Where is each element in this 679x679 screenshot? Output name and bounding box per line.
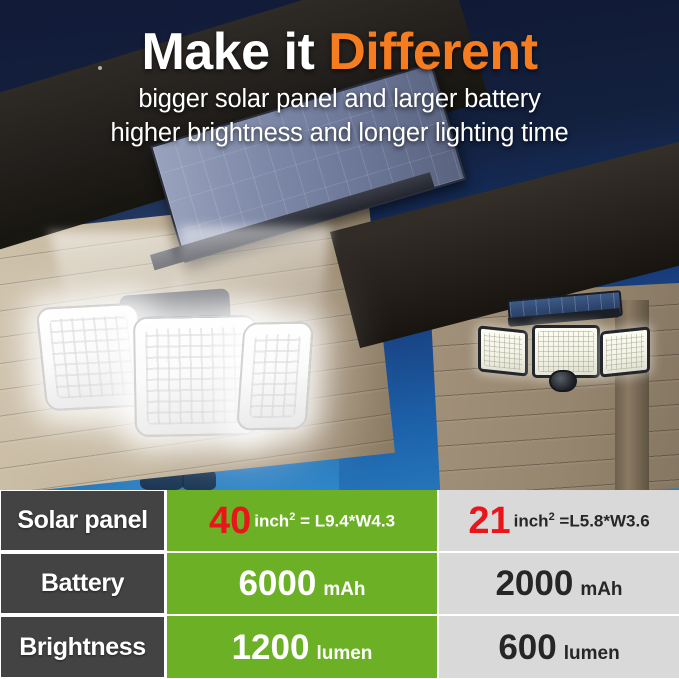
brightness-unit-bad: lumen <box>564 644 620 663</box>
solar-panel-value-good: 40 <box>209 502 251 540</box>
brightness-unit-good: lumen <box>316 644 372 663</box>
unit-text: inch <box>254 511 289 530</box>
cell-battery-upgraded: 6000 mAh <box>167 553 437 614</box>
led-grid <box>538 331 594 372</box>
solar-panel-unit-good: inch2 = L9.4*W4.3 <box>254 512 395 530</box>
lamp-head-right-3 <box>600 326 650 377</box>
cell-solar-panel-upgraded: 40 inch2 = L9.4*W4.3 <box>167 490 437 551</box>
row-label-battery: Battery <box>0 553 165 614</box>
superscript-two: 2 <box>289 511 295 523</box>
table-row: Brightness 1200 lumen 600 lumen <box>0 616 679 678</box>
row-label-brightness: Brightness <box>0 616 165 678</box>
table-row: Battery 6000 mAh 2000 mAh <box>0 553 679 614</box>
cell-brightness-ordinary: 600 lumen <box>439 616 679 678</box>
value-group: 6000 mAh <box>238 566 365 601</box>
led-grid <box>606 333 644 371</box>
battery-value-bad: 2000 <box>495 566 573 601</box>
cell-solar-panel-ordinary: 21 inch2 =L5.8*W3.6 <box>439 490 679 551</box>
value-group: 1200 lumen <box>232 630 373 665</box>
unit-text: inch <box>514 511 549 530</box>
brightness-value-good: 1200 <box>232 630 310 665</box>
battery-value-good: 6000 <box>238 566 316 601</box>
cell-battery-ordinary: 2000 mAh <box>439 553 679 614</box>
table-row: Solar panel 40 inch2 = L9.4*W4.3 21 inch… <box>0 490 679 551</box>
led-grid <box>145 327 247 425</box>
value-group: 600 lumen <box>498 630 619 665</box>
dimension-text: = L9.4*W4.3 <box>300 511 395 530</box>
motion-sensor-icon <box>549 370 577 392</box>
row-label-solar-panel: Solar panel <box>0 490 165 551</box>
battery-unit-good: mAh <box>323 580 365 599</box>
cell-brightness-upgraded: 1200 lumen <box>167 616 437 678</box>
led-grid <box>484 332 522 370</box>
brightness-value-bad: 600 <box>498 630 556 665</box>
product-comparison-image: Make it Different bigger solar panel and… <box>0 0 679 679</box>
lamp-head-right-1 <box>478 325 528 376</box>
value-group: 2000 mAh <box>495 566 622 601</box>
battery-unit-bad: mAh <box>580 580 622 599</box>
lamp-head-left-1 <box>36 303 149 412</box>
hero-photo-area: Make it Different bigger solar panel and… <box>0 0 679 490</box>
dimension-text: =L5.8*W3.6 <box>559 511 649 530</box>
comparison-table: Solar panel 40 inch2 = L9.4*W4.3 21 inch… <box>0 490 679 679</box>
lamp-head-left-3 <box>236 322 314 431</box>
solar-panel-unit-bad: inch2 =L5.8*W3.6 <box>514 512 650 530</box>
solar-panel-value-bad: 21 <box>468 502 510 540</box>
led-grid <box>249 334 301 419</box>
superscript-two: 2 <box>549 511 555 523</box>
led-grid <box>49 315 135 399</box>
